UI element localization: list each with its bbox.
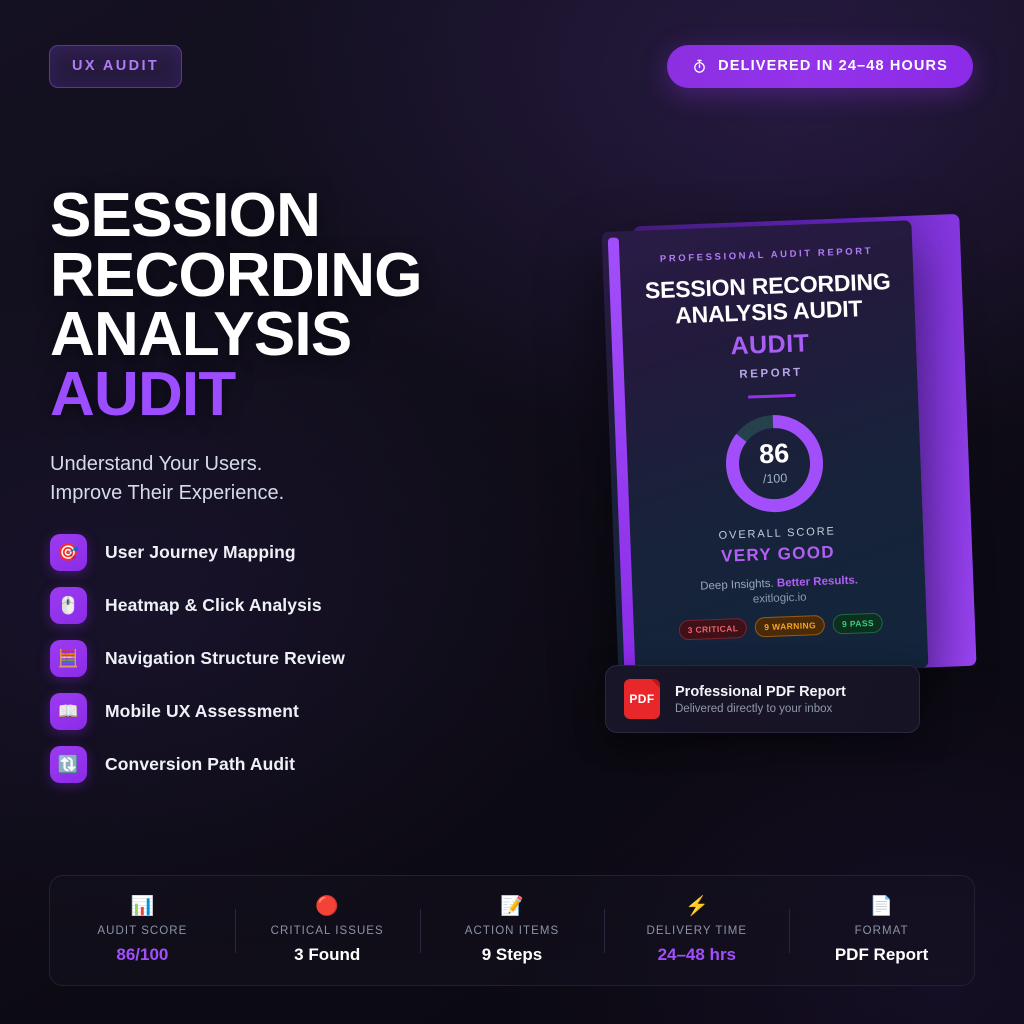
stat-label: FORMAT — [789, 925, 974, 937]
list-item: 🔃 Conversion Path Audit — [50, 746, 345, 783]
report-report-word: REPORT — [637, 362, 905, 384]
status-badge: 9 WARNING — [755, 614, 825, 637]
headline-line-2: RECORDING — [50, 246, 422, 306]
memo-pencil-icon: 📝 — [420, 897, 605, 916]
stat-label: AUDIT SCORE — [50, 925, 235, 937]
list-item: 📖 Mobile UX Assessment — [50, 693, 345, 730]
stat-value: 86/100 — [50, 945, 235, 965]
report-divider — [748, 393, 796, 398]
score-max: /100 — [763, 471, 788, 486]
report-audit-word: AUDIT — [636, 325, 905, 364]
stat-audit-score: 📊 AUDIT SCORE 86/100 — [50, 897, 235, 965]
stat-value: PDF Report — [789, 945, 974, 965]
stat-delivery-time: ⚡ DELIVERY TIME 24–48 hrs — [604, 897, 789, 965]
list-item: 🧮 Navigation Structure Review — [50, 640, 345, 677]
report-spine — [608, 237, 636, 673]
stopwatch-icon — [692, 59, 707, 74]
report-mockup: PROFESSIONAL AUDIT REPORT SESSION RECORD… — [604, 206, 976, 684]
delivery-badge-label: DELIVERED IN 24–48 HOURS — [718, 58, 948, 74]
report-kicker: PROFESSIONAL AUDIT REPORT — [632, 245, 900, 266]
feature-label: Heatmap & Click Analysis — [105, 595, 322, 616]
stat-critical-issues: 🔴 CRITICAL ISSUES 3 Found — [235, 897, 420, 965]
stat-label: ACTION ITEMS — [420, 925, 605, 937]
open-book-icon: 📖 — [50, 693, 87, 730]
stat-value: 24–48 hrs — [604, 945, 789, 965]
pdf-card-subtitle: Delivered directly to your inbox — [675, 703, 846, 715]
red-circle-icon: 🔴 — [235, 897, 420, 916]
delivery-badge: DELIVERED IN 24–48 HOURS — [667, 45, 973, 88]
report-cover: PROFESSIONAL AUDIT REPORT SESSION RECORD… — [602, 220, 929, 680]
page-document-icon: 📄 — [789, 897, 974, 916]
list-item: 🖱️ Heatmap & Click Analysis — [50, 587, 345, 624]
page-title: SESSION RECORDING ANALYSIS AUDIT — [50, 186, 422, 424]
stat-label: CRITICAL ISSUES — [235, 925, 420, 937]
feature-label: User Journey Mapping — [105, 542, 296, 563]
refresh-arrows-icon: 🔃 — [50, 746, 87, 783]
lightning-bolt-icon: ⚡ — [604, 897, 789, 916]
list-item: 🎯 User Journey Mapping — [50, 534, 345, 571]
report-title: SESSION RECORDING ANALYSIS AUDIT — [633, 269, 903, 331]
score-verdict: VERY GOOD — [644, 539, 913, 569]
headline-accent: AUDIT — [50, 365, 422, 425]
subtitle-line-2: Improve Their Experience. — [50, 479, 284, 508]
pdf-delivery-card: PDF Professional PDF Report Delivered di… — [605, 665, 920, 733]
stat-value: 9 Steps — [420, 945, 605, 965]
stats-bar: 📊 AUDIT SCORE 86/100 🔴 CRITICAL ISSUES 3… — [49, 875, 975, 986]
ux-audit-badge: UX AUDIT — [49, 45, 182, 88]
issue-badges: 3 CRITICAL 9 WARNING 9 PASS — [646, 611, 915, 641]
stat-format: 📄 FORMAT PDF Report — [789, 897, 974, 965]
feature-list: 🎯 User Journey Mapping 🖱️ Heatmap & Clic… — [50, 534, 345, 799]
pdf-card-title: Professional PDF Report — [675, 684, 846, 700]
feature-label: Mobile UX Assessment — [105, 701, 299, 722]
headline-line-1: SESSION — [50, 186, 422, 246]
tagline-plain: Deep Insights. — [700, 577, 777, 592]
feature-label: Conversion Path Audit — [105, 754, 295, 775]
status-badge: 3 CRITICAL — [678, 617, 747, 640]
pdf-file-icon: PDF — [624, 679, 660, 719]
stat-value: 3 Found — [235, 945, 420, 965]
score-value: 86 — [759, 440, 790, 468]
dart-target-icon: 🎯 — [50, 534, 87, 571]
tagline-bold: Better Results. — [777, 574, 859, 589]
hero-subtitle: Understand Your Users. Improve Their Exp… — [50, 450, 284, 508]
computer-mouse-icon: 🖱️ — [50, 587, 87, 624]
feature-label: Navigation Structure Review — [105, 648, 345, 669]
abacus-calculator-icon: 🧮 — [50, 640, 87, 677]
bar-chart-icon: 📊 — [50, 897, 235, 916]
status-badge: 9 PASS — [833, 612, 884, 634]
subtitle-line-1: Understand Your Users. — [50, 450, 284, 479]
headline-line-3: ANALYSIS — [50, 305, 422, 365]
stat-label: DELIVERY TIME — [604, 925, 789, 937]
score-gauge: 86 /100 — [720, 408, 830, 518]
stat-action-items: 📝 ACTION ITEMS 9 Steps — [420, 897, 605, 965]
